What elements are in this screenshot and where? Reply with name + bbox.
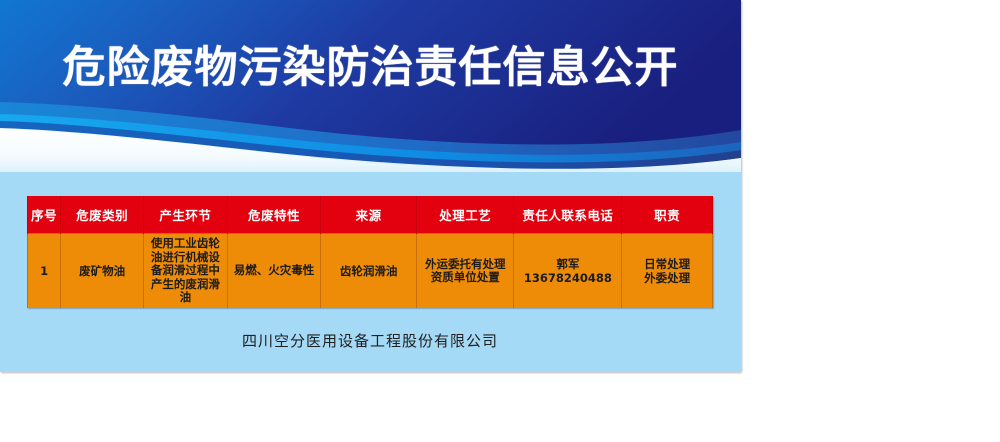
cell-stage: 使用工业齿轮油进行机械设备润滑过程中产生的废润滑油 — [143, 234, 227, 309]
column-header-seq: 序号 — [28, 196, 61, 234]
cell-source: 齿轮润滑油 — [321, 234, 417, 309]
cell-contact: 郭军 13678240488 — [514, 234, 622, 309]
poster-banner: 危险废物污染防治责任信息公开 — [0, 0, 741, 172]
duty-line-1: 日常处理 — [625, 257, 709, 271]
column-header-stage: 产生环节 — [143, 196, 227, 234]
cell-seq: 1 — [28, 234, 61, 309]
table-row: 1 废矿物油 使用工业齿轮油进行机械设备润滑过程中产生的废润滑油 易燃、火灾毒性… — [28, 234, 713, 309]
duty-line-2: 外委处理 — [625, 271, 709, 285]
cell-process: 外运委托有处理资质单位处置 — [417, 234, 514, 309]
cell-duty: 日常处理 外委处理 — [622, 234, 713, 309]
column-header-category: 危废类别 — [61, 196, 144, 234]
column-header-contact: 责任人联系电话 — [514, 196, 622, 234]
column-header-property: 危废特性 — [227, 196, 320, 234]
column-header-source: 来源 — [321, 196, 417, 234]
cell-category: 废矿物油 — [61, 234, 144, 309]
information-disclosure-poster: 危险废物污染防治责任信息公开 序号 危废类别 产生环节 危废特性 来源 处理工艺… — [0, 0, 741, 372]
hazardous-waste-table: 序号 危废类别 产生环节 危废特性 来源 处理工艺 责任人联系电话 职责 1 废… — [27, 196, 713, 308]
column-header-duty: 职责 — [622, 196, 713, 234]
company-name: 四川空分医用设备工程股份有限公司 — [27, 330, 713, 351]
contact-person-name: 郭军 — [517, 257, 618, 271]
cell-property: 易燃、火灾毒性 — [227, 234, 320, 309]
contact-phone-number: 13678240488 — [517, 271, 618, 285]
column-header-process: 处理工艺 — [417, 196, 514, 234]
table-header-row: 序号 危废类别 产生环节 危废特性 来源 处理工艺 责任人联系电话 职责 — [28, 196, 713, 234]
page-title: 危险废物污染防治责任信息公开 — [0, 42, 741, 94]
